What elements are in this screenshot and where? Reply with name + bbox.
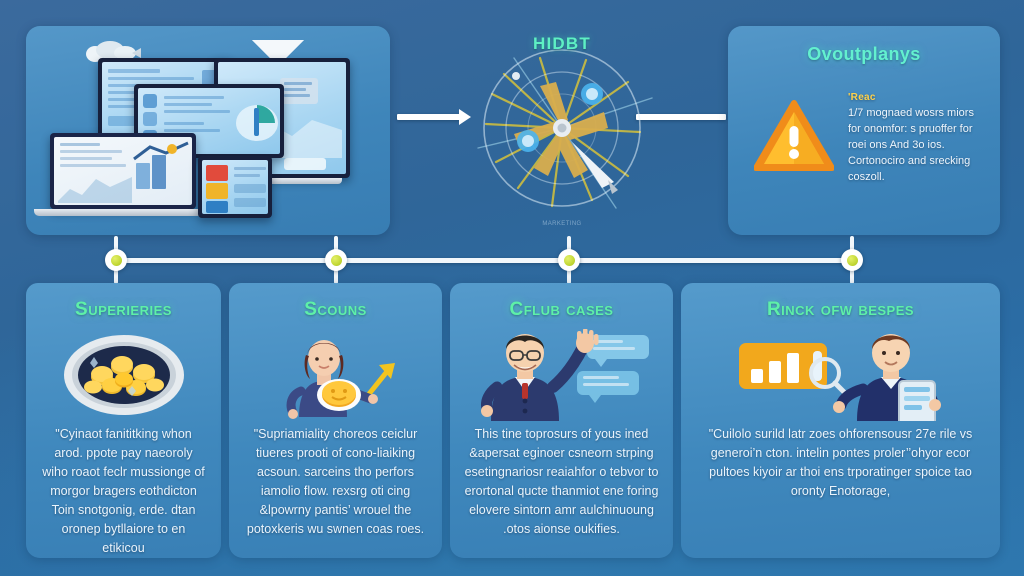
bowl-of-coins-icon: [60, 329, 188, 417]
timeline-dot: [325, 249, 347, 271]
warning-body: 'Reac 1/7 mognaed wosrs miors for onomfo…: [848, 92, 986, 186]
card-title: Cflub cases: [450, 299, 673, 321]
card-body: "Supriamiality choreos ceiclur tiueres p…: [243, 425, 428, 539]
warning-text: 1/7 mognaed wosrs miors for onomfor: s p…: [848, 106, 986, 186]
infographic-canvas: HIDBT MARKETING Ovoutplanys 'Reac 1/7 mo…: [0, 0, 1024, 576]
hub-caption: MARKETING: [452, 221, 672, 227]
network-hub-icon: [452, 28, 672, 233]
network-hub-group: HIDBT MARKETING: [452, 28, 672, 233]
timeline-node-3[interactable]: [558, 236, 580, 284]
card-art: [229, 329, 442, 421]
tablet-dashboard-front: [198, 156, 272, 218]
card-scouns[interactable]: Scouns: [229, 283, 442, 558]
warning-triangle-icon: [754, 100, 834, 172]
man-waving-with-chat-bubbles-icon: [467, 329, 657, 421]
timeline: [0, 236, 1024, 284]
card-art: [681, 329, 1000, 421]
devices-panel: [26, 26, 390, 235]
timeline-dot: [841, 249, 863, 271]
card-title: Rinck ofw bespes: [681, 299, 1000, 321]
woman-with-coin-icon: [261, 329, 411, 419]
card-superieries[interactable]: Superieries: [26, 283, 221, 558]
timeline-node-4[interactable]: [841, 236, 863, 284]
timeline-dot: [105, 249, 127, 271]
card-body: This tine toprosurs of yous ined &apersa…: [464, 425, 659, 539]
card-art: [26, 329, 221, 421]
card-cflub-cases[interactable]: Cflub cases: [450, 283, 673, 558]
card-title: Scouns: [229, 299, 442, 321]
timeline-rail: [115, 258, 853, 263]
warning-panel: Ovoutplanys 'Reac 1/7 mognaed wosrs mior…: [728, 26, 1000, 235]
hub-title: HIDBT: [452, 34, 672, 54]
warning-subhead: 'Reac: [848, 92, 986, 103]
timeline-dot: [558, 249, 580, 271]
card-rinck-ofw-bespes[interactable]: Rinck ofw bespes: [681, 283, 1000, 558]
timeline-node-2[interactable]: [325, 236, 347, 284]
timeline-node-1[interactable]: [105, 236, 127, 284]
card-title: Superieries: [26, 299, 221, 321]
laptop-analytics-front: [50, 133, 196, 209]
card-art: [450, 329, 673, 421]
bar-chart-with-analyst-icon: [721, 329, 961, 421]
warning-panel-title: Ovoutplanys: [728, 44, 1000, 65]
laptop-base: [34, 209, 212, 216]
devices-illustration: [26, 26, 390, 235]
card-body: "Cuilolo surild latr zoes ohforensousr 2…: [695, 425, 986, 501]
card-body: "Cyinaot fanititking whon arod. ppote pa…: [40, 425, 207, 558]
